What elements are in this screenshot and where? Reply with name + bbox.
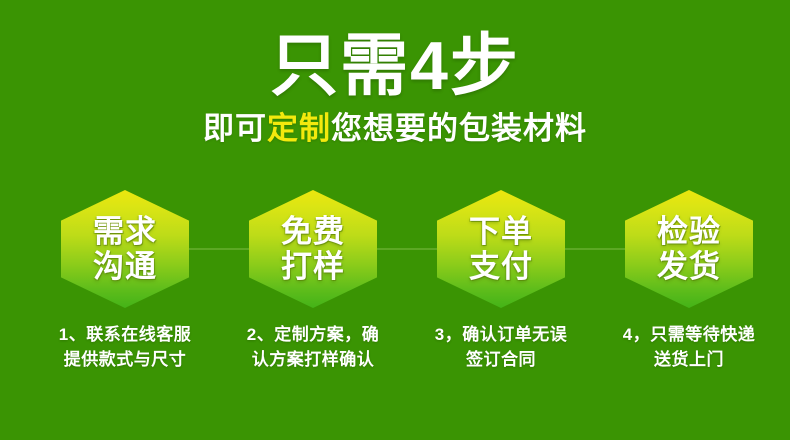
step-2-caption-line1: 2、定制方案，确 bbox=[215, 322, 411, 347]
headline-block: 只需4步 即可定制您想要的包装材料 bbox=[0, 28, 790, 148]
step-2-caption: 2、定制方案，确 认方案打样确认 bbox=[215, 322, 411, 372]
step-hexagon-1: 需求 沟通 bbox=[61, 190, 189, 308]
step-4-caption-line1: 4，只需等待快递 bbox=[591, 322, 787, 347]
step-hexagon-3: 下单 支付 bbox=[437, 190, 565, 308]
step-1-label-line2: 沟通 bbox=[93, 249, 157, 284]
step-hexagon-2: 免费 打样 bbox=[249, 190, 377, 308]
step-1-label-line1: 需求 bbox=[93, 214, 157, 249]
promo-banner: 只需4步 即可定制您想要的包装材料 需求 沟通 免费 打样 下单 支付 检验 发… bbox=[0, 0, 790, 440]
step-3-caption: 3，确认订单无误 签订合同 bbox=[403, 322, 599, 372]
subtitle-prefix: 即可 bbox=[203, 111, 267, 146]
step-3-label-line1: 下单 bbox=[469, 214, 533, 249]
captions-row: 1、联系在线客服 提供款式与尺寸 2、定制方案，确 认方案打样确认 3，确认订单… bbox=[0, 322, 790, 392]
step-4-label-line1: 检验 bbox=[657, 214, 721, 249]
step-2-caption-line2: 认方案打样确认 bbox=[215, 347, 411, 372]
step-4-caption: 4，只需等待快递 送货上门 bbox=[591, 322, 787, 372]
step-2-label-line2: 打样 bbox=[281, 249, 345, 284]
step-1-caption-line1: 1、联系在线客服 bbox=[27, 322, 223, 347]
step-1-caption-line2: 提供款式与尺寸 bbox=[27, 347, 223, 372]
subtitle-highlight: 定制 bbox=[267, 111, 331, 146]
subtitle-suffix: 您想要的包装材料 bbox=[331, 111, 587, 146]
step-3-caption-line2: 签订合同 bbox=[403, 347, 599, 372]
page-subtitle: 即可定制您想要的包装材料 bbox=[0, 110, 790, 148]
step-3-caption-line1: 3，确认订单无误 bbox=[403, 322, 599, 347]
step-4-label-line2: 发货 bbox=[657, 249, 721, 284]
step-1-caption: 1、联系在线客服 提供款式与尺寸 bbox=[27, 322, 223, 372]
step-4-caption-line2: 送货上门 bbox=[591, 347, 787, 372]
steps-row: 需求 沟通 免费 打样 下单 支付 检验 发货 bbox=[0, 186, 790, 312]
step-hexagon-4: 检验 发货 bbox=[625, 190, 753, 308]
step-3-label-line2: 支付 bbox=[469, 249, 533, 284]
step-2-label-line1: 免费 bbox=[281, 214, 345, 249]
page-title: 只需4步 bbox=[0, 28, 790, 104]
